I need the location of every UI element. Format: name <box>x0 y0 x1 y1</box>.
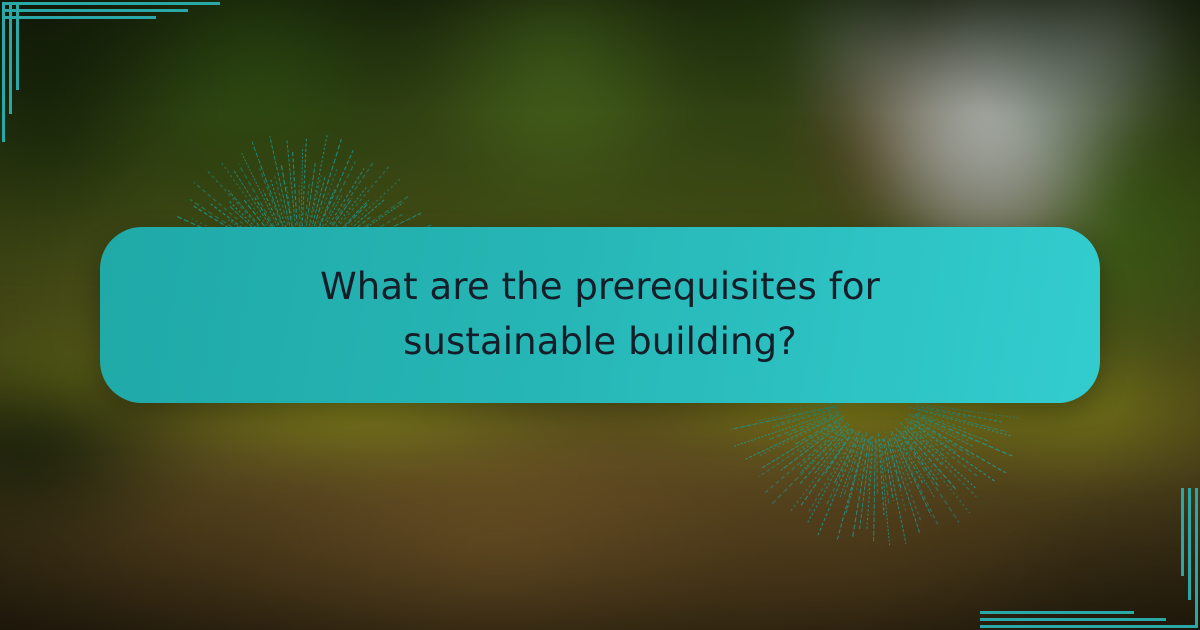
question-text: What are the prerequisites for sustainab… <box>240 260 960 370</box>
question-card: What are the prerequisites for sustainab… <box>100 227 1100 403</box>
question-card-graphic: What are the prerequisites for sustainab… <box>0 0 1200 630</box>
